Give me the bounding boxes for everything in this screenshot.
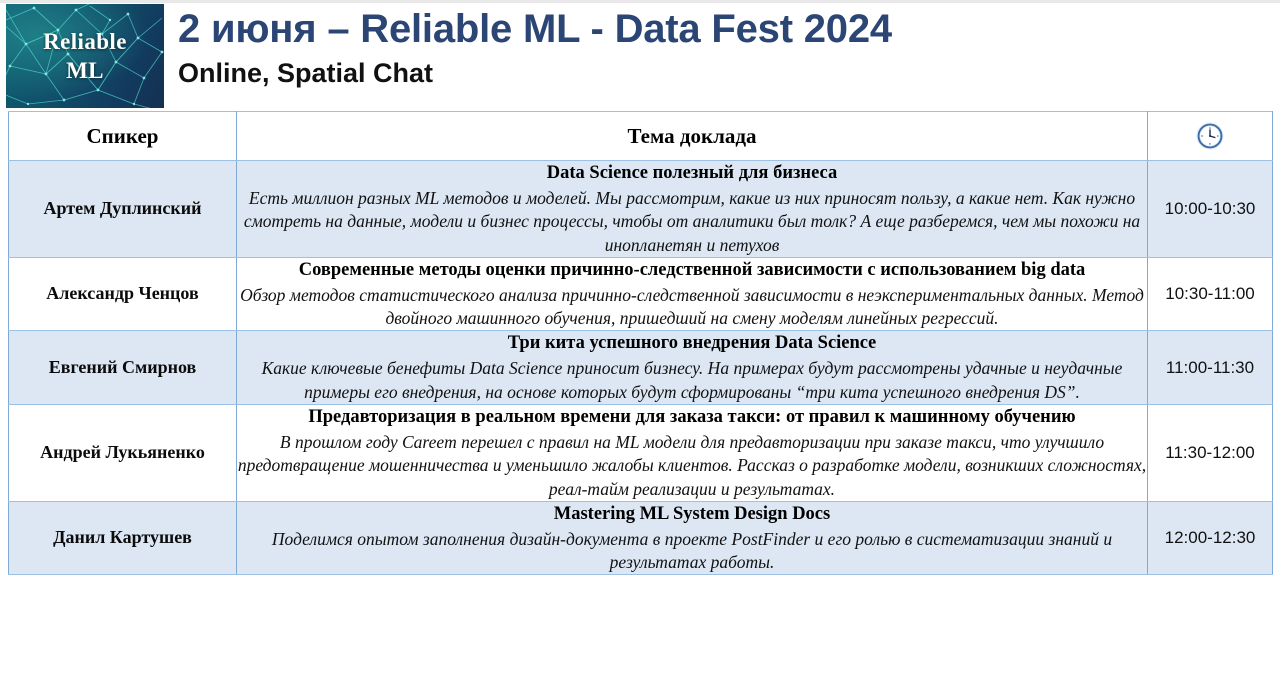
cell-time: 11:30-12:00 — [1148, 405, 1273, 502]
column-header-topic-label: Тема доклада — [627, 124, 756, 148]
topic-description: Какие ключевые бенефиты Data Science при… — [237, 357, 1147, 404]
table-row[interactable]: Артем Дуплинский Data Science полезный д… — [9, 161, 1273, 258]
clock-icon — [1195, 121, 1225, 151]
column-header-speaker: Спикер — [9, 112, 237, 161]
topic-title: Современные методы оценки причинно-следс… — [237, 258, 1147, 282]
page-title: 2 июня – Reliable ML - Data Fest 2024 — [178, 8, 892, 50]
top-divider — [0, 0, 1280, 3]
table-row[interactable]: Александр Ченцов Современные методы оцен… — [9, 257, 1273, 331]
topic-description: Обзор методов статистического анализа пр… — [237, 284, 1147, 331]
logo-wordmark: Reliable ML — [6, 4, 164, 108]
topic-title: Предавторизация в реальном времени для з… — [237, 405, 1147, 429]
topic-description: В прошлом году Careem перешел с правил н… — [237, 431, 1147, 501]
cell-speaker: Артем Дуплинский — [9, 161, 237, 258]
topic-title: Mastering ML System Design Docs — [237, 502, 1147, 526]
table-header-row: Спикер Тема доклада — [9, 112, 1273, 161]
column-header-speaker-label: Спикер — [87, 124, 159, 148]
topic-title: Data Science полезный для бизнеса — [237, 161, 1147, 185]
table-row[interactable]: Данил Картушев Mastering ML System Desig… — [9, 501, 1273, 575]
table-row[interactable]: Евгений Смирнов Три кита успешного внедр… — [9, 331, 1273, 405]
page-subtitle: Online, Spatial Chat — [178, 59, 892, 89]
cell-time: 12:00-12:30 — [1148, 501, 1273, 575]
header-titles: 2 июня – Reliable ML - Data Fest 2024 On… — [178, 8, 892, 89]
cell-time: 10:30-11:00 — [1148, 257, 1273, 331]
cell-topic: Mastering ML System Design Docs Поделимс… — [237, 501, 1148, 575]
logo-line-2: ML — [66, 56, 104, 85]
topic-description: Есть миллион разных ML методов и моделей… — [237, 187, 1147, 257]
table-row[interactable]: Андрей Лукьяненко Предавторизация в реал… — [9, 405, 1273, 502]
topic-description: Поделимся опытом заполнения дизайн-докум… — [237, 528, 1147, 575]
table-header: Спикер Тема доклада — [9, 112, 1273, 161]
logo-line-1: Reliable — [43, 27, 127, 56]
column-header-time — [1148, 112, 1273, 161]
cell-topic: Современные методы оценки причинно-следс… — [237, 257, 1148, 331]
cell-time: 11:00-11:30 — [1148, 331, 1273, 405]
cell-topic: Три кита успешного внедрения Data Scienc… — [237, 331, 1148, 405]
cell-time: 10:00-10:30 — [1148, 161, 1273, 258]
page-header: Reliable ML 2 июня – Reliable ML - Data … — [0, 0, 1280, 110]
table-body: Артем Дуплинский Data Science полезный д… — [9, 161, 1273, 575]
schedule-table: Спикер Тема доклада — [8, 111, 1273, 575]
topic-title: Три кита успешного внедрения Data Scienc… — [237, 331, 1147, 355]
column-header-topic: Тема доклада — [237, 112, 1148, 161]
cell-topic: Предавторизация в реальном времени для з… — [237, 405, 1148, 502]
cell-speaker: Евгений Смирнов — [9, 331, 237, 405]
cell-speaker: Александр Ченцов — [9, 257, 237, 331]
cell-speaker: Данил Картушев — [9, 501, 237, 575]
cell-speaker: Андрей Лукьяненко — [9, 405, 237, 502]
cell-topic: Data Science полезный для бизнеса Есть м… — [237, 161, 1148, 258]
reliable-ml-logo: Reliable ML — [6, 4, 164, 108]
schedule-table-container: Спикер Тема доклада — [8, 111, 1272, 575]
